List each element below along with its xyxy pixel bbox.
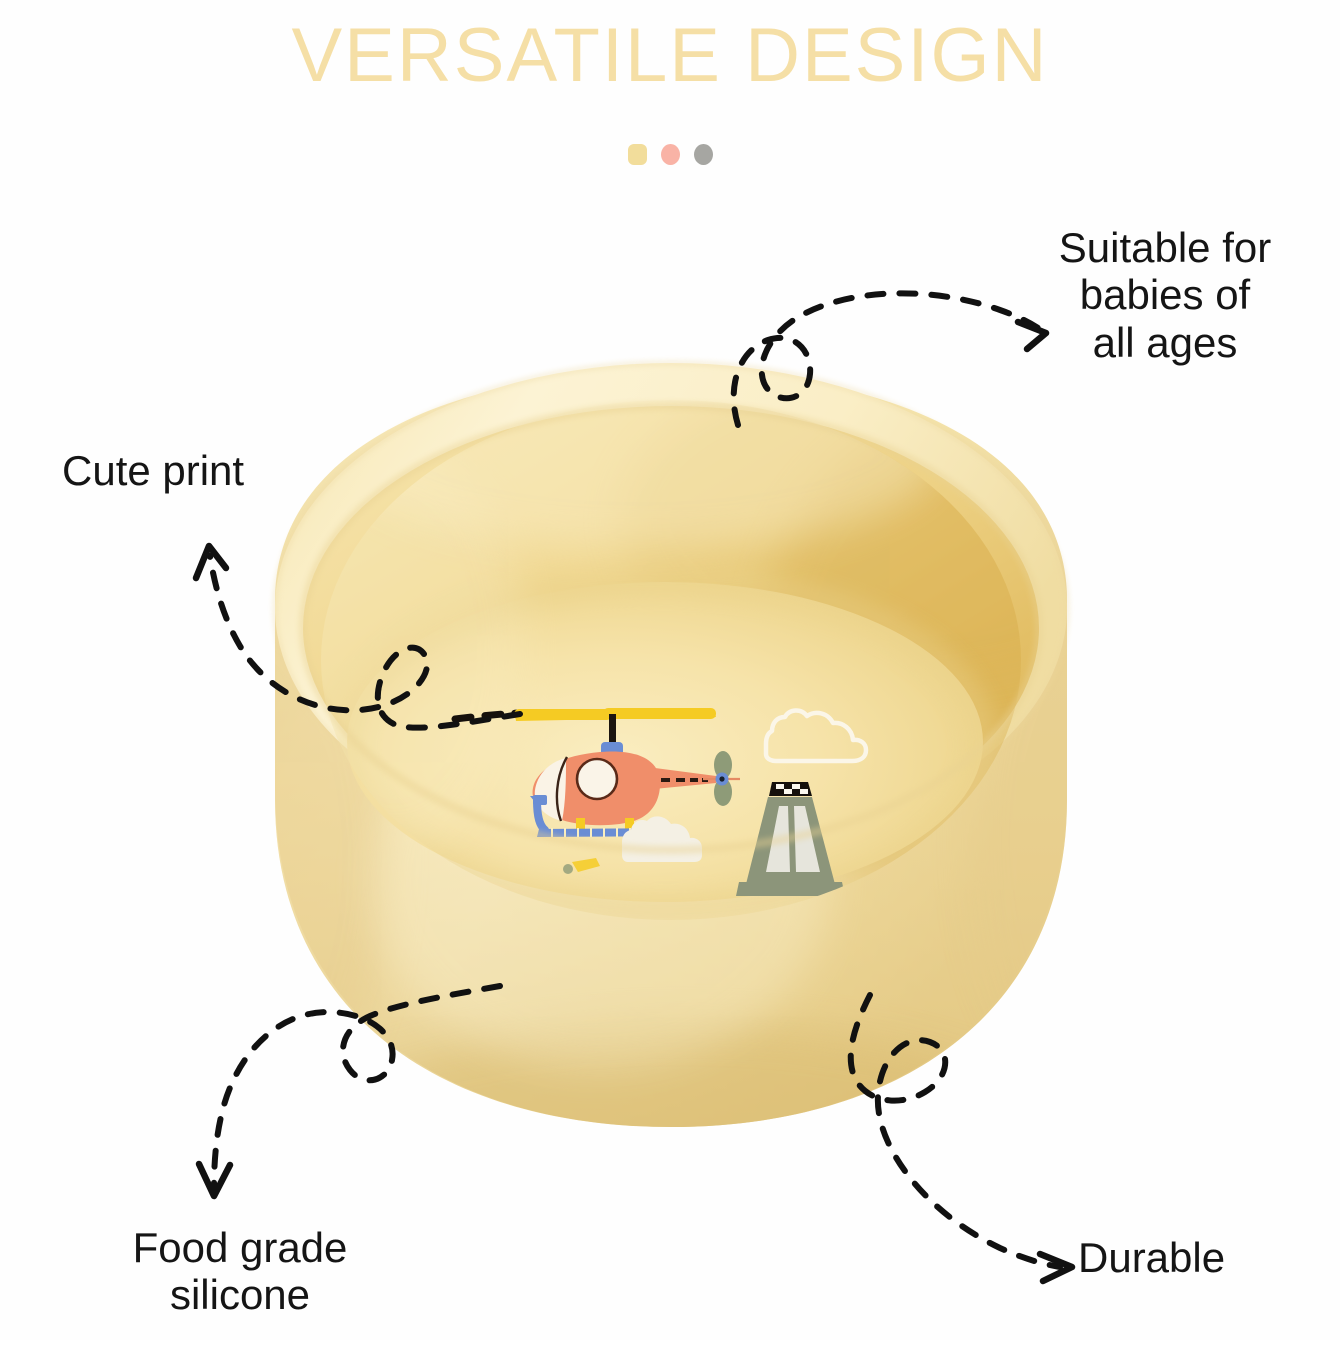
- callout-label-babies: Suitable for babies of all ages: [1030, 224, 1300, 366]
- helicopter-skid-icon: [530, 795, 683, 837]
- callout-label-durable: Durable: [1078, 1234, 1225, 1281]
- print-control-tower-icon: [736, 782, 845, 896]
- product-image-bowl: [0, 0, 1340, 1340]
- helicopter-tail-rotor-icon: [703, 751, 740, 806]
- bowl-inner-rim-edge: [303, 406, 1039, 850]
- arrow-to-durable-callout: [851, 995, 1072, 1281]
- bowl-interior: [265, 360, 1200, 910]
- page-title: VERSATILE DESIGN: [0, 14, 1340, 98]
- callout-label-cute-print: Cute print: [62, 447, 244, 494]
- arrow-to-babies-callout: [734, 293, 1046, 425]
- pagination-dot-pink[interactable]: [661, 144, 680, 165]
- helicopter-rotor-icon: [514, 708, 716, 756]
- print-cloud-outline-icon: [766, 710, 866, 761]
- bowl-print-graphic: [455, 708, 866, 896]
- pagination-dot-gray[interactable]: [694, 144, 713, 165]
- arrow-to-silicone-callout: [199, 986, 500, 1196]
- bowl-rim: [275, 363, 1067, 853]
- arrow-to-cute-print-callout: [196, 546, 520, 728]
- bowl-svg: [0, 0, 1340, 1340]
- callout-label-food-grade-silicone: Food grade silicone: [95, 1224, 385, 1319]
- print-dashed-trail: [455, 713, 518, 719]
- print-cloud-solid-icon: [622, 816, 702, 862]
- print-helicopter: [514, 708, 740, 837]
- pagination-dots: [0, 144, 1340, 165]
- bowl-outer-body: [110, 371, 1210, 1325]
- print-plane-partial-icon: [563, 858, 600, 874]
- callout-arrows: [0, 0, 1340, 1340]
- helicopter-body-icon: [533, 751, 740, 832]
- pagination-dot-yellow[interactable]: [628, 144, 647, 165]
